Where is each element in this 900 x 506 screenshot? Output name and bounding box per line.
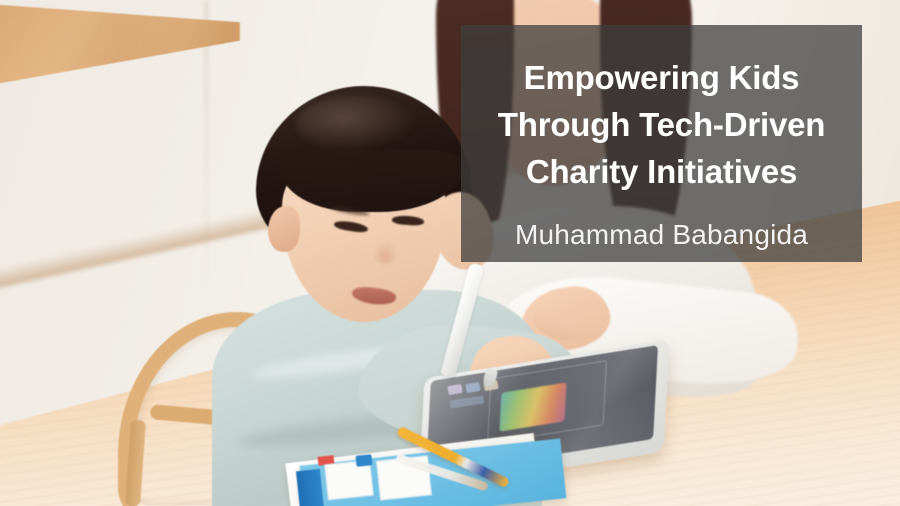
boy-ear [268,206,300,252]
page-title-line-2: Through Tech-Driven [467,102,856,149]
workbook-spine [296,469,324,506]
title-banner: Empowering Kids Through Tech-Driven Char… [0,0,900,506]
workbook-blue-badge [355,454,372,467]
boy-hair-highlight [296,96,416,152]
author-name: Muhammad Babangida [461,219,862,251]
page-title: Empowering Kids Through Tech-Driven Char… [461,55,862,196]
page-title-line-1: Empowering Kids [467,55,856,102]
text-overlay-panel: Empowering Kids Through Tech-Driven Char… [461,25,862,262]
boy-nose [372,240,398,264]
page-title-line-3: Charity Initiatives [467,149,856,196]
